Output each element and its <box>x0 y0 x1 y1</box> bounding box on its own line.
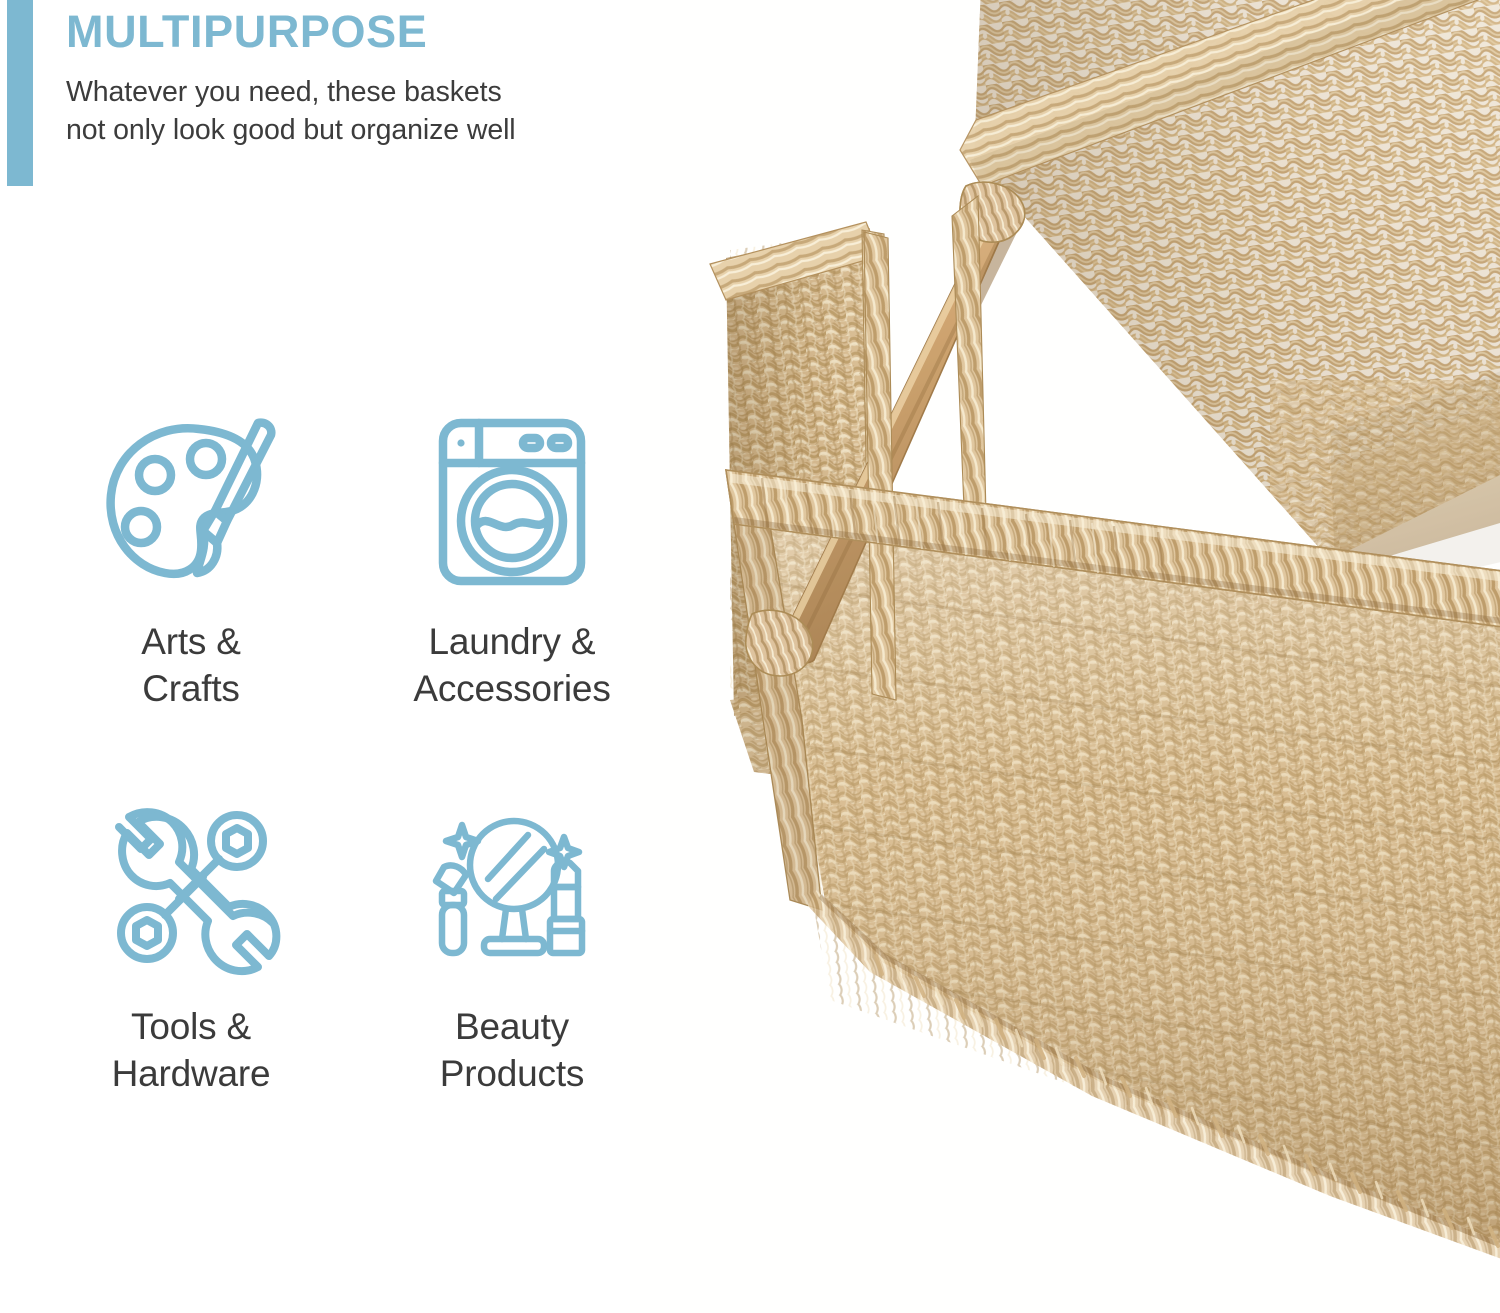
feature-item-arts-crafts: Arts & Crafts <box>36 412 336 742</box>
product-photo-basket <box>630 0 1500 1313</box>
feature-label-line-2: Accessories <box>413 665 610 712</box>
feature-label-line-1: Tools & <box>112 1003 271 1050</box>
feature-item-laundry-accessories: Laundry & Accessories <box>336 412 666 742</box>
feature-label-line-1: Arts & <box>141 618 241 665</box>
accent-bar <box>7 0 33 186</box>
product-feature-graphic: MULTIPURPOSE Whatever you need, these ba… <box>0 0 1500 1313</box>
feature-item-tools-hardware: Tools & Hardware <box>36 797 336 1127</box>
vanity-mirror-icon <box>422 797 602 977</box>
feature-label: Tools & Hardware <box>112 1003 271 1098</box>
feature-label: Laundry & Accessories <box>413 618 610 713</box>
feature-grid: Arts & Crafts <box>36 412 666 1127</box>
feature-label: Beauty Products <box>440 1003 584 1098</box>
feature-item-beauty-products: Beauty Products <box>336 797 666 1127</box>
feature-label: Arts & Crafts <box>141 618 241 713</box>
feature-label-line-2: Products <box>440 1050 584 1097</box>
washing-machine-icon <box>422 412 602 592</box>
feature-label-line-2: Hardware <box>112 1050 271 1097</box>
feature-label-line-2: Crafts <box>141 665 241 712</box>
feature-label-line-1: Laundry & <box>413 618 610 665</box>
crossed-wrenches-icon <box>101 797 281 977</box>
feature-label-line-1: Beauty <box>440 1003 584 1050</box>
palette-icon <box>101 412 281 592</box>
